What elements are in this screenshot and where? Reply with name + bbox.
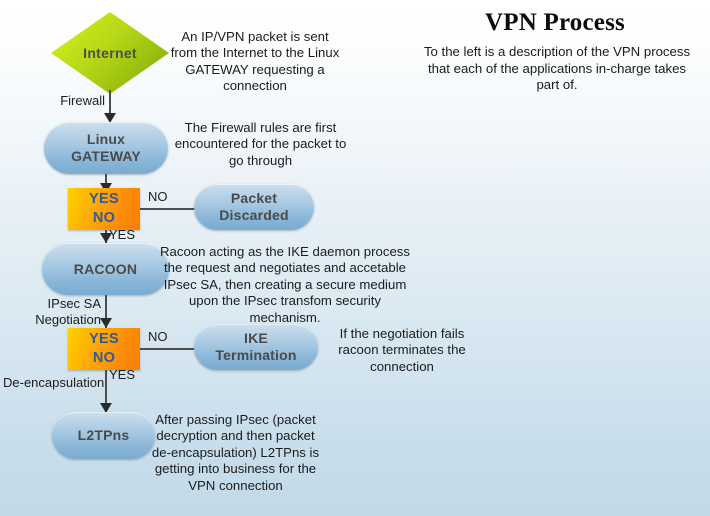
connector-label-no-1: NO (148, 189, 168, 205)
node-internet-label: Internet (51, 12, 169, 94)
connector-label-ipsec-sa-2: Negotiation (35, 312, 101, 327)
node-l2tpns[interactable]: L2TPns (52, 412, 155, 459)
decision-ipsec-yes: YES (89, 330, 119, 349)
connector-label-ipsec-sa-1: IPsec SA (48, 296, 101, 311)
node-linux-gateway-label-1: Linux (87, 131, 125, 148)
connector-label-no-2: NO (148, 329, 168, 345)
description-l2tpns: After passing IPsec (packet decryption a… (148, 412, 323, 494)
node-racoon[interactable]: RACOON (42, 243, 169, 295)
description-internet: An IP/VPN packet is sent from the Intern… (169, 29, 341, 95)
connector-label-yes-2: YES (109, 367, 135, 383)
node-internet[interactable]: Internet (51, 12, 169, 94)
connector-decision1-packet-discarded (140, 208, 198, 210)
connector-label-deencapsulation: De-encapsulation (3, 375, 103, 391)
node-packet-discarded[interactable]: Packet Discarded (194, 184, 314, 230)
connector-label-ipsec-sa: IPsec SA Negotiation (17, 296, 101, 327)
node-packet-discarded-label-2: Discarded (219, 207, 289, 224)
page-subtitle: To the left is a description of the VPN … (420, 44, 694, 94)
vpn-process-diagram: VPN Process To the left is a description… (0, 0, 710, 516)
node-racoon-label: RACOON (74, 261, 137, 278)
node-linux-gateway-label-2: GATEWAY (71, 148, 141, 165)
decision-firewall-no: NO (93, 209, 115, 228)
connector-decision2-ike-termination (140, 348, 198, 350)
page-title: VPN Process (420, 9, 690, 37)
description-gateway: The Firewall rules are first encountered… (172, 120, 349, 169)
decision-ipsec-negotiation[interactable]: YES NO (68, 328, 140, 370)
decision-ipsec-no: NO (93, 349, 115, 368)
node-packet-discarded-label-1: Packet (231, 190, 277, 207)
node-ike-termination-label-2: Termination (215, 347, 296, 364)
connector-racoon-decision2-arrow (100, 318, 112, 328)
node-linux-gateway[interactable]: Linux GATEWAY (44, 122, 168, 174)
node-ike-termination-label-1: IKE (244, 330, 268, 347)
description-ike-termination: If the negotiation fails racoon terminat… (322, 326, 482, 375)
connector-label-firewall: Firewall (27, 93, 105, 109)
node-ike-termination[interactable]: IKE Termination (194, 324, 318, 370)
connector-label-yes-1: YES (109, 227, 135, 243)
description-racoon: Racoon acting as the IKE daemon process … (160, 244, 410, 326)
decision-firewall-check[interactable]: YES NO (68, 188, 140, 230)
node-l2tpns-label: L2TPns (78, 427, 130, 444)
decision-firewall-yes: YES (89, 190, 119, 209)
